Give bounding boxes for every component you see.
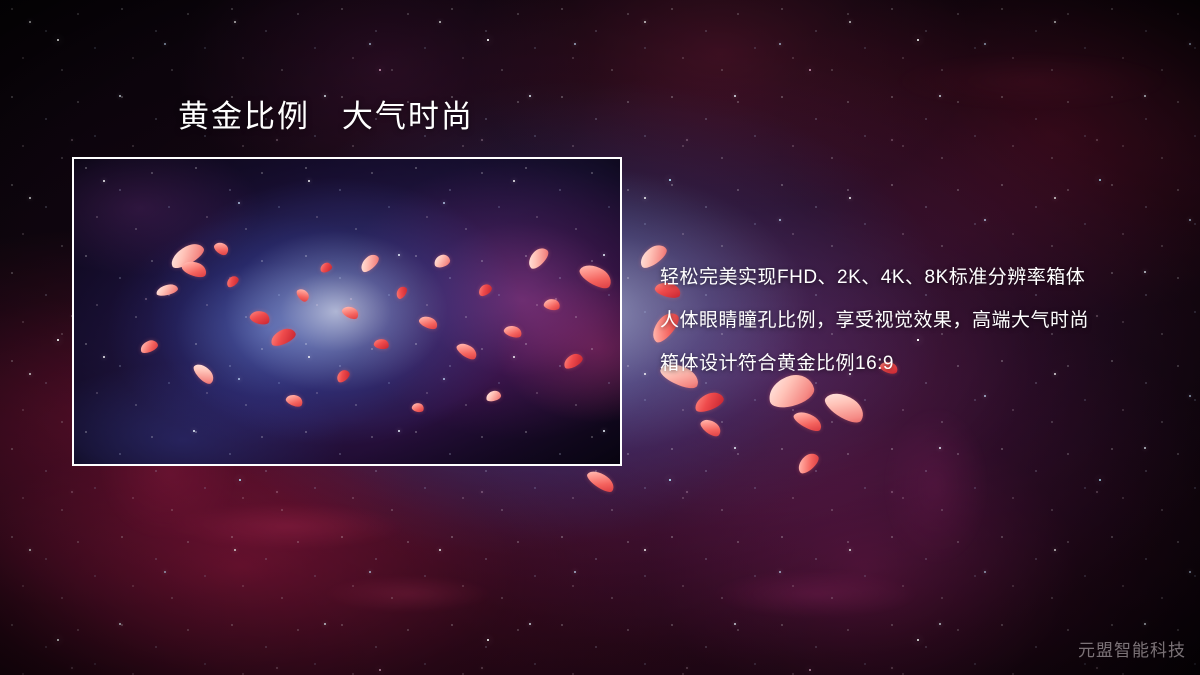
- page-title: 黄金比例 大气时尚: [178, 100, 474, 134]
- body-line-2: 人体眼睛瞳孔比例，享受视觉效果，高端大气时尚: [660, 299, 1180, 342]
- framed-nebula-photo: [72, 157, 622, 466]
- body-line-1: 轻松完美实现FHD、2K、4K、8K标准分辨率箱体: [660, 256, 1180, 299]
- body-copy: 轻松完美实现FHD、2K、4K、8K标准分辨率箱体 人体眼睛瞳孔比例，享受视觉效…: [660, 256, 1180, 385]
- watermark: 元盟智能科技: [1078, 636, 1186, 661]
- body-line-3: 箱体设计符合黄金比例16:9: [660, 342, 1180, 385]
- presentation-slide: 黄金比例 大气时尚 轻松完美实现FHD、2K、4K、8K标准分辨率箱体 人体眼睛…: [0, 0, 1200, 675]
